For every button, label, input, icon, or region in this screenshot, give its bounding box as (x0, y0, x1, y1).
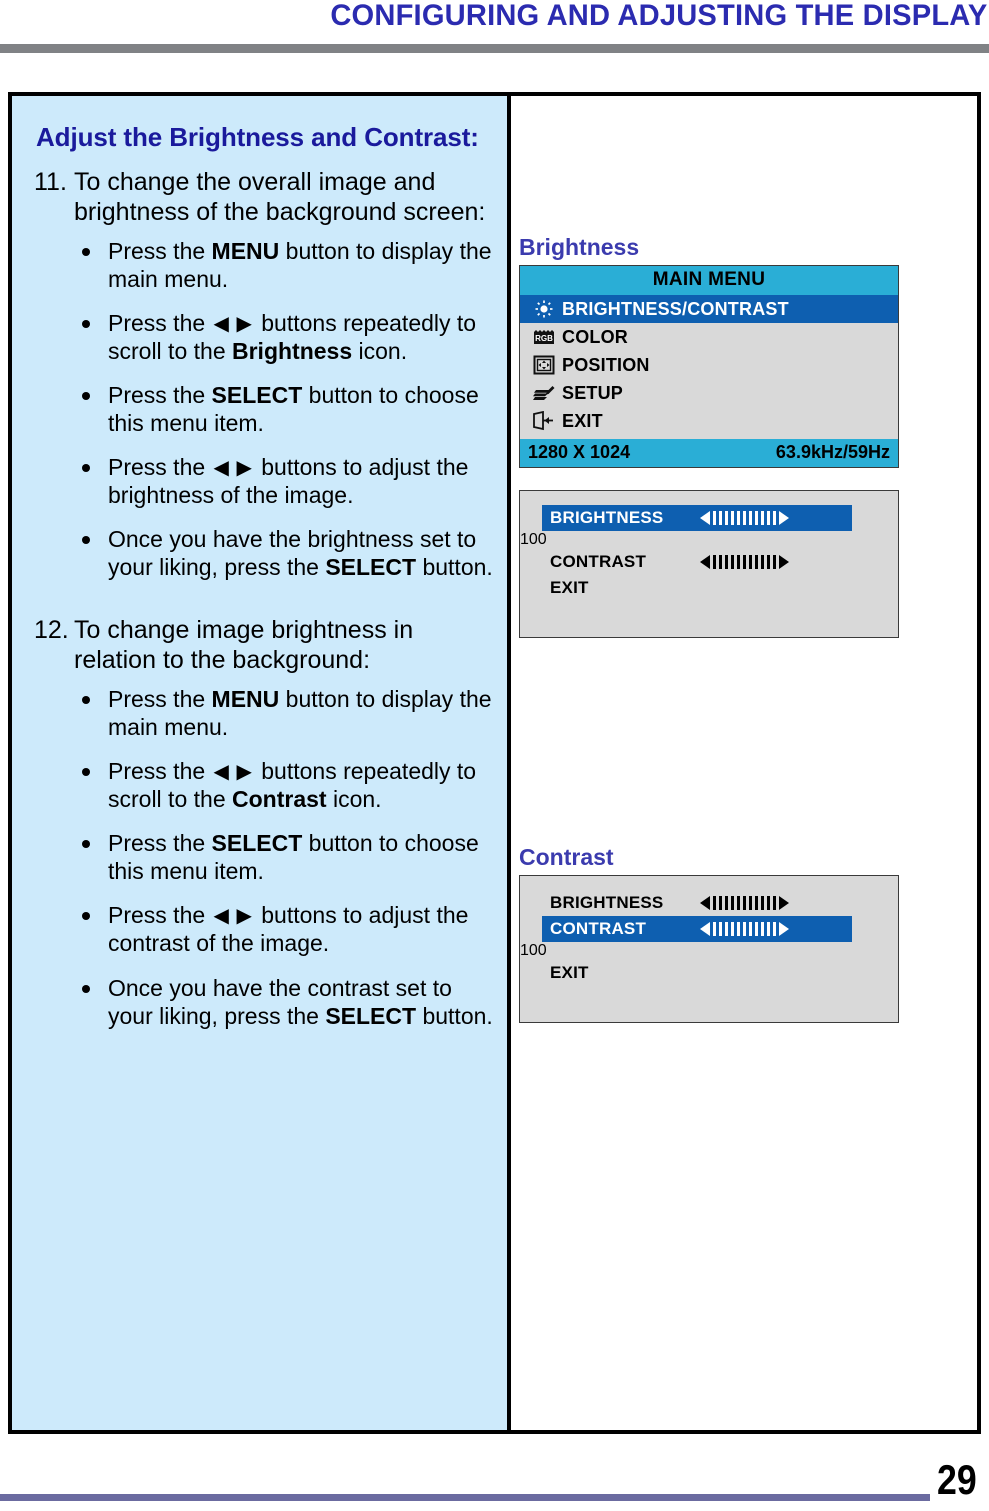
osd-slider-label: CONTRAST (550, 919, 700, 939)
osd-main-menu: MAIN MENU (519, 265, 899, 468)
osd-item-setup[interactable]: SETUP (520, 379, 898, 407)
bullet-dot-icon (82, 392, 90, 400)
step-block-12: 12. To change image brightness in relati… (26, 615, 493, 1029)
bullet-text: Press the (108, 310, 212, 336)
exit-door-icon (526, 411, 562, 431)
contrast-illustration-group: Contrast BRIGHTNESS CONTRAST (519, 844, 909, 1023)
bullet-bold-brightness: Brightness (232, 338, 352, 364)
bullet-dot-icon (82, 840, 90, 848)
bullet-bold-menu: MENU (212, 686, 280, 712)
bullet-dot-icon (82, 985, 90, 993)
bullet-text: Press the (108, 830, 212, 856)
step-12-text: To change image brightness in relation t… (74, 615, 493, 675)
bullet-text-post: button. (416, 554, 493, 580)
step-12: 12. To change image brightness in relati… (26, 615, 493, 675)
osd-slider-row-wrap: BRIGHTNESS 100 (520, 505, 898, 549)
osd-item-brightness-contrast[interactable]: BRIGHTNESS/CONTRAST (520, 295, 898, 323)
bullet-dot-icon (82, 248, 90, 256)
osd-contrast-sliders: BRIGHTNESS CONTRAST (519, 875, 899, 1023)
page-title: CONFIGURING AND ADJUSTING THE DISPLAY (330, 0, 987, 33)
list-item: Press the ◀ ▶ buttons to adjust the cont… (26, 901, 493, 957)
bullet-dot-icon (82, 696, 90, 704)
list-item: Press the ◀ ▶ buttons to adjust the brig… (26, 453, 493, 509)
osd-illustration-panel: Brightness MAIN MENU (511, 96, 977, 1430)
brightness-value: 100 (520, 531, 547, 548)
osd-item-label: POSITION (562, 355, 650, 376)
brightness-slider-bar[interactable] (700, 896, 789, 910)
bullet-text: Press the (108, 238, 212, 264)
slider-left-arrow-icon[interactable] (700, 922, 710, 936)
list-item: Press the ◀ ▶ buttons repeatedly to scro… (26, 309, 493, 365)
bullet-text: Press the (108, 758, 212, 784)
bullet-text: Press the (108, 454, 212, 480)
osd-item-exit[interactable]: EXIT (520, 407, 898, 435)
bullet-text-post: icon. (327, 786, 382, 812)
slider-right-arrow-icon[interactable] (779, 511, 789, 525)
osd-item-color[interactable]: RGB COLOR (520, 323, 898, 351)
osd-slider-row-brightness[interactable]: BRIGHTNESS (542, 505, 852, 531)
osd-slider-row-brightness[interactable]: BRIGHTNESS (542, 890, 852, 916)
osd-slider-row-exit[interactable]: EXIT (542, 575, 852, 601)
slider-right-arrow-icon[interactable] (779, 922, 789, 936)
slider-left-arrow-icon[interactable] (700, 896, 710, 910)
osd-item-label: EXIT (562, 411, 603, 432)
bullet-dot-icon (82, 464, 90, 472)
slider-right-arrow-icon[interactable] (779, 896, 789, 910)
bullet-bold-contrast: Contrast (232, 786, 327, 812)
list-item: Once you have the brightness set to your… (26, 525, 493, 581)
setup-pages-icon (526, 383, 562, 403)
brightness-slider-bar[interactable] (700, 511, 789, 525)
left-right-arrows-icon: ◀ ▶ (212, 760, 255, 784)
bullet-dot-icon (82, 320, 90, 328)
list-item: Press the MENU button to display the mai… (26, 237, 493, 293)
osd-status-bar: 1280 X 1024 63.9kHz/59Hz (520, 439, 898, 467)
osd-slider-row-wrap: CONTRAST 100 (520, 916, 898, 960)
left-right-arrows-icon: ◀ ▶ (212, 312, 255, 336)
content-frame: Adjust the Brightness and Contrast: 11. … (8, 92, 981, 1434)
contrast-slider-bar[interactable] (700, 922, 789, 936)
bullet-text-post: icon. (352, 338, 407, 364)
slider-ticks (713, 555, 776, 569)
step-12-number: 12. (26, 615, 74, 675)
osd-slider-label: BRIGHTNESS (550, 508, 700, 528)
osd-resolution: 1280 X 1024 (528, 442, 630, 463)
osd-main-menu-title: MAIN MENU (520, 266, 898, 295)
brightness-sun-icon (526, 299, 562, 319)
list-item: Press the SELECT button to choose this m… (26, 381, 493, 437)
left-right-arrows-icon: ◀ ▶ (212, 904, 255, 928)
bullet-text: Press the (108, 902, 212, 928)
osd-refresh-rate: 63.9kHz/59Hz (776, 442, 890, 463)
slider-left-arrow-icon[interactable] (700, 555, 710, 569)
list-item: Once you have the contrast set to your l… (26, 974, 493, 1030)
rgb-color-icon: RGB (526, 328, 562, 346)
svg-text:RGB: RGB (535, 334, 553, 343)
osd-item-position[interactable]: POSITION (520, 351, 898, 379)
bullet-bold-select: SELECT (325, 1003, 416, 1029)
step-block-11: 11. To change the overall image and brig… (26, 167, 493, 581)
osd-slider-label: CONTRAST (550, 552, 700, 572)
osd-slider-row-contrast[interactable]: CONTRAST (542, 916, 852, 942)
bullet-text: Press the (108, 382, 212, 408)
slider-right-arrow-icon[interactable] (779, 555, 789, 569)
contrast-caption: Contrast (519, 844, 909, 871)
slider-ticks (713, 511, 776, 525)
osd-item-label: COLOR (562, 327, 628, 348)
contrast-value: 100 (520, 942, 547, 959)
bullet-bold-menu: MENU (212, 238, 280, 264)
bullet-dot-icon (82, 912, 90, 920)
page-number: 29 (937, 1456, 977, 1504)
bullet-dot-icon (82, 768, 90, 776)
osd-item-label: BRIGHTNESS/CONTRAST (562, 299, 789, 320)
osd-slider-label: EXIT (550, 578, 700, 598)
bullet-text: Press the (108, 686, 212, 712)
header-divider-rule (0, 44, 989, 53)
osd-brightness-sliders: BRIGHTNESS 100 CONTRAST (519, 490, 899, 638)
bullet-dot-icon (82, 536, 90, 544)
step-11-text: To change the overall image and brightne… (74, 167, 493, 227)
list-item: Press the MENU button to display the mai… (26, 685, 493, 741)
contrast-slider-bar[interactable] (700, 555, 789, 569)
step-11-bullets: Press the MENU button to display the mai… (26, 237, 493, 581)
osd-slider-row-contrast[interactable]: CONTRAST (542, 549, 852, 575)
bullet-text-post: button. (416, 1003, 493, 1029)
instructions-panel: Adjust the Brightness and Contrast: 11. … (12, 96, 511, 1430)
step-12-bullets: Press the MENU button to display the mai… (26, 685, 493, 1029)
footer-divider-rule (0, 1494, 930, 1501)
step-11-number: 11. (26, 167, 74, 227)
osd-item-label: SETUP (562, 383, 623, 404)
position-crosshair-icon (526, 355, 562, 375)
page-header: CONFIGURING AND ADJUSTING THE DISPLAY (0, 0, 989, 44)
osd-slider-row-exit[interactable]: EXIT (542, 960, 852, 986)
list-item: Press the ◀ ▶ buttons repeatedly to scro… (26, 757, 493, 813)
bullet-bold-select: SELECT (212, 830, 303, 856)
step-11: 11. To change the overall image and brig… (26, 167, 493, 227)
brightness-illustration-group: Brightness MAIN MENU (519, 234, 909, 638)
list-item: Press the SELECT button to choose this m… (26, 829, 493, 885)
brightness-caption: Brightness (519, 234, 909, 261)
section-heading: Adjust the Brightness and Contrast: (36, 122, 493, 153)
slider-ticks (713, 922, 776, 936)
slider-left-arrow-icon[interactable] (700, 511, 710, 525)
bullet-bold-select: SELECT (325, 554, 416, 580)
osd-slider-label: BRIGHTNESS (550, 893, 700, 913)
slider-ticks (713, 896, 776, 910)
left-right-arrows-icon: ◀ ▶ (212, 456, 255, 480)
osd-slider-label: EXIT (550, 963, 700, 983)
bullet-bold-select: SELECT (212, 382, 303, 408)
